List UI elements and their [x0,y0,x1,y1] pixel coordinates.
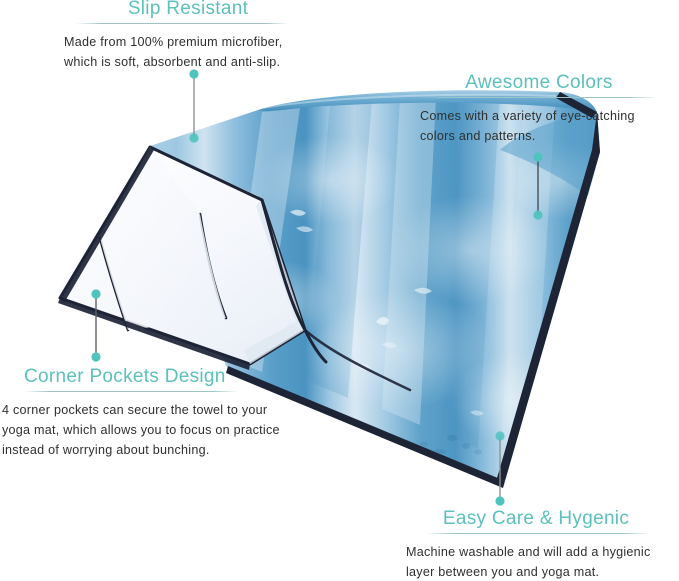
leader-awesome-colors [533,152,542,219]
feature-heading-corner-pockets: Corner Pockets Design [22,366,322,388]
feature-heading-easy-care: Easy Care & Hygenic [400,508,672,530]
feature-callout-easy-care: Easy Care & Hygenic Machine washable and… [400,508,672,581]
heading-rule [76,23,290,24]
feature-heading-slip-resistant: Slip Resistant [58,0,318,20]
heading-rule [426,533,650,534]
feature-heading-awesome-colors: Awesome Colors [408,72,670,94]
feature-body-awesome-colors: Comes with a variety of eye-catching col… [420,106,670,146]
feature-callout-awesome-colors: Awesome Colors Comes with a variety of e… [408,72,670,146]
heading-rule [421,97,657,98]
feature-body-slip-resistant: Made from 100% premium microfiber, which… [64,32,318,72]
leader-corner-pockets [91,289,100,361]
infographic-canvas: Slip Resistant Made from 100% premium mi… [0,0,679,581]
feature-callout-corner-pockets: Corner Pockets Design 4 corner pockets c… [22,366,322,460]
leader-easy-care [495,431,504,505]
feature-body-corner-pockets: 4 corner pockets can secure the towel to… [2,400,322,460]
heading-rule [24,391,238,392]
leader-slip-resistant [189,69,198,142]
feature-callout-slip-resistant: Slip Resistant Made from 100% premium mi… [58,0,318,72]
feature-body-easy-care: Machine washable and will add a hygienic… [406,542,672,581]
